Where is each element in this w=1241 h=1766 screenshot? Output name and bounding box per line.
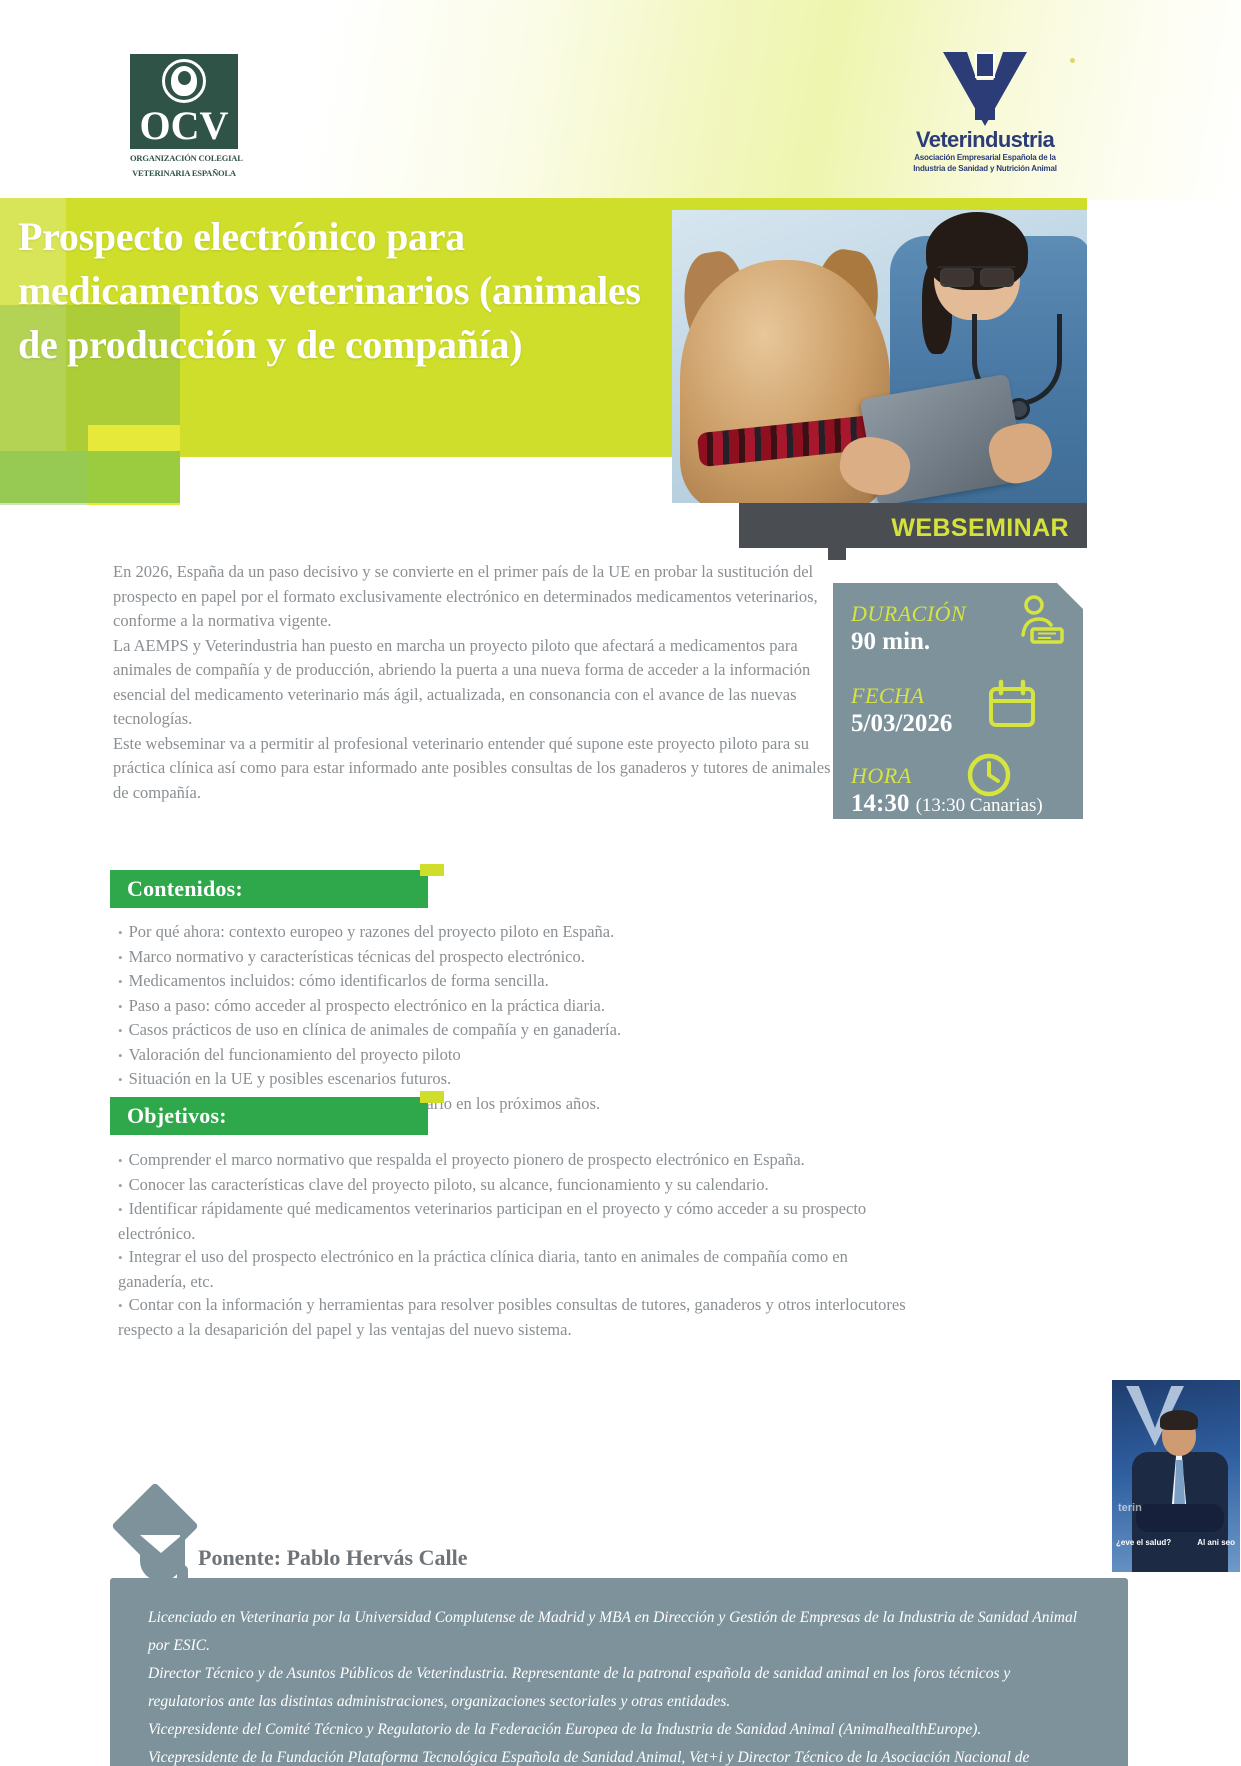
hero-decoration-bottom-line <box>180 451 740 457</box>
veterindustria-logo: Veterindustria Asociación Empresarial Es… <box>905 48 1065 174</box>
webseminar-badge-tab <box>828 548 846 560</box>
objectives-list: Comprender el marco normativo que respal… <box>118 1148 908 1341</box>
duration-person-icon <box>1018 595 1068 652</box>
objectives-section-header: Objetivos: <box>110 1097 428 1135</box>
date-label: FECHA <box>851 683 952 709</box>
speaker-portrait-photo: terin ¿eve el salud? Al ani seo <box>1112 1380 1240 1572</box>
graduation-cap-icon <box>118 1495 202 1567</box>
speaker-name: Ponente: Pablo Hervás Calle <box>198 1545 467 1571</box>
portrait-watermark-text: terin <box>1118 1502 1142 1514</box>
photo-vet-glasses <box>938 266 1016 282</box>
event-info-card: DURACIÓN 90 min. FECHA 5/03/2026 <box>833 583 1083 819</box>
ocv-logo-subtitle-line2: VETERINARIA ESPAÑOLA <box>130 168 238 179</box>
list-item: Comprender el marco normativo que respal… <box>118 1148 908 1173</box>
lion-seal-icon <box>162 59 206 103</box>
bio-paragraph: Licenciado en Veterinaria por la Univers… <box>148 1604 1088 1660</box>
date-value: 5/03/2026 <box>851 710 952 738</box>
decorative-dot <box>1070 58 1075 63</box>
hero-photo-vet-with-dog <box>672 210 1087 503</box>
intro-paragraph-3: Este webseminar va a permitir al profesi… <box>113 732 831 806</box>
intro-text-block: En 2026, España da un paso decisivo y se… <box>113 560 831 805</box>
duration-value: 90 min. <box>851 628 966 656</box>
hero-decoration-block-bottom <box>0 451 180 503</box>
contents-section-header: Contenidos: <box>110 870 428 908</box>
bio-paragraph: Director Técnico y de Asuntos Públicos d… <box>148 1660 1088 1716</box>
webseminar-badge-label: WEBSEMINAR <box>891 514 1069 543</box>
ocv-logo-letters: OCV <box>140 104 229 148</box>
speaker-bio-text: Licenciado en Veterinaria por la Univers… <box>148 1604 1088 1766</box>
clock-icon <box>963 751 1019 808</box>
list-item: Identificar rápidamente qué medicamentos… <box>118 1197 908 1245</box>
contents-heading: Contenidos: <box>127 876 243 902</box>
speaker-bio-box: Licenciado en Veterinaria por la Univers… <box>110 1578 1128 1766</box>
page-title: Prospecto electrónico para medicamentos … <box>18 210 678 372</box>
list-item: Situación en la UE y posibles escenarios… <box>118 1067 878 1092</box>
cap-tassel <box>180 1531 185 1569</box>
ocv-logo: OCV ORGANIZACIÓN COLEGIAL VETERINARIA ES… <box>130 54 238 179</box>
webseminar-badge-band: WEBSEMINAR <box>739 503 1087 548</box>
list-item: Por qué ahora: contexto europeo y razone… <box>118 920 878 945</box>
veterindustria-logo-tagline-line2: Industria de Sanidad y Nutrición Animal <box>905 164 1065 174</box>
veterindustria-logo-tagline-line1: Asociación Empresarial Española de la <box>905 153 1065 163</box>
veterindustria-logo-mark <box>905 48 1065 126</box>
cap-mortarboard <box>111 1482 199 1570</box>
intro-paragraph-2: La AEMPS y Veterindustria han puesto en … <box>113 634 831 732</box>
list-item: Valoración del funcionamiento del proyec… <box>118 1043 878 1068</box>
contents-list: Por qué ahora: contexto europeo y razone… <box>118 920 878 1116</box>
time-value: 14:30 <box>851 790 909 817</box>
portrait-caption-right: Al ani seo <box>1197 1538 1235 1548</box>
list-item: Marco normativo y características técnic… <box>118 945 878 970</box>
poster-page: OCV ORGANIZACIÓN COLEGIAL VETERINARIA ES… <box>0 0 1241 1766</box>
objectives-header-accent-top <box>420 1091 444 1103</box>
list-item: Contar con la información y herramientas… <box>118 1293 908 1341</box>
portrait-hair <box>1160 1410 1198 1430</box>
calendar-icon <box>985 679 1039 736</box>
objectives-heading: Objetivos: <box>127 1103 227 1129</box>
list-item: Casos prácticos de uso en clínica de ani… <box>118 1018 878 1043</box>
veterindustria-logo-name: Veterindustria <box>905 128 1065 152</box>
bio-paragraph: Vicepresidente de la Fundación Plataform… <box>148 1744 1088 1766</box>
intro-paragraph-1: En 2026, España da un paso decisivo y se… <box>113 560 831 634</box>
v-shape-icon <box>905 48 1065 126</box>
ocv-logo-mark: OCV <box>130 54 238 149</box>
list-item: Medicamentos incluidos: cómo identificar… <box>118 969 878 994</box>
date-row: FECHA 5/03/2026 <box>851 683 952 738</box>
bio-paragraph: Vicepresidente del Comité Técnico y Regu… <box>148 1716 1088 1744</box>
portrait-caption-left: ¿eve el salud? <box>1116 1538 1171 1548</box>
list-item: Integrar el uso del prospecto electrónic… <box>118 1245 908 1293</box>
duration-label: DURACIÓN <box>851 601 966 627</box>
list-item: Paso a paso: cómo acceder al prospecto e… <box>118 994 878 1019</box>
duration-row: DURACIÓN 90 min. <box>851 601 966 656</box>
contents-header-accent-top <box>420 864 444 876</box>
list-item: Conocer las características clave del pr… <box>118 1173 908 1198</box>
ocv-logo-subtitle-line1: ORGANIZACIÓN COLEGIAL <box>130 153 238 164</box>
portrait-crossed-arms <box>1136 1504 1224 1532</box>
